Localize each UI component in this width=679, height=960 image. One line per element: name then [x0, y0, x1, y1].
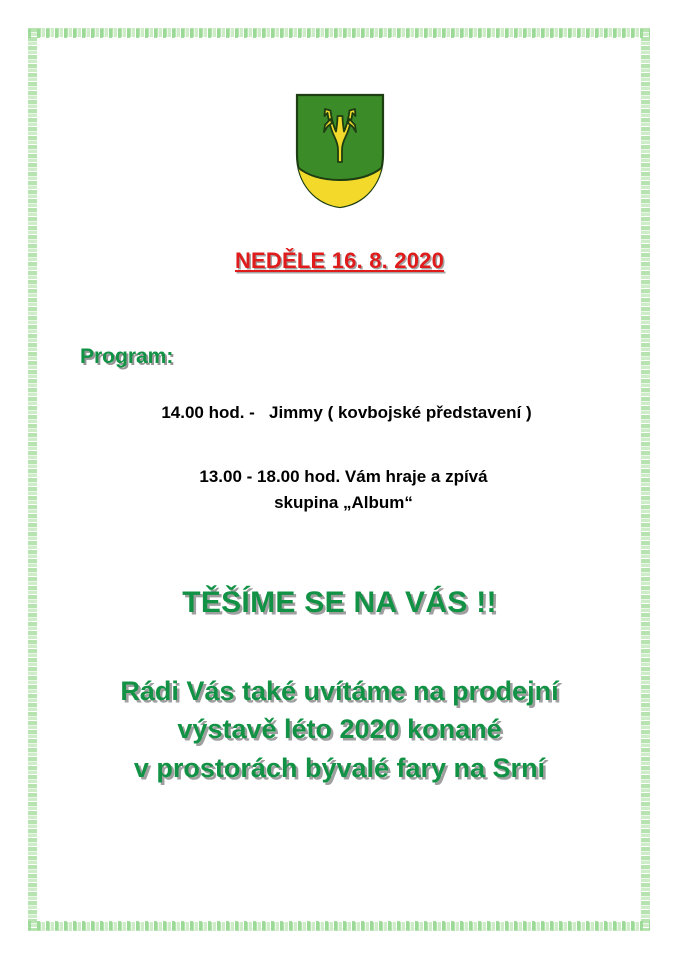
program-item-jimmy: 14.00 hod. - Jimmy ( kovbojské představe…	[0, 400, 679, 426]
border-top-scallop	[28, 29, 650, 38]
invitation-line-1: Rádi Vás také uvítáme na prodejní	[0, 672, 679, 710]
coat-of-arms-shield-icon	[294, 92, 386, 210]
border-top-edge	[28, 28, 650, 37]
border-bottom-edge	[28, 922, 650, 931]
poster-page: NEDĚLE 16. 8. 2020 Program: 14.00 hod. -…	[0, 0, 679, 960]
crest-container	[0, 92, 679, 215]
invitation-text: Rádi Vás také uvítáme na prodejní výstav…	[0, 672, 679, 787]
border-bottom-scallop	[28, 921, 650, 930]
invitation-line-3: v prostorách bývalé fary na Srní	[0, 749, 679, 787]
program-item-album: 13.00 - 18.00 hod. Vám hraje a zpívá sku…	[0, 464, 679, 515]
invitation-line-2: výstavě léto 2020 konané	[0, 710, 679, 748]
event-date-heading: NEDĚLE 16. 8. 2020	[0, 248, 679, 274]
program-label: Program:	[80, 345, 173, 369]
slogan-text: TĚŠÍME SE NA VÁS !!	[0, 586, 679, 620]
